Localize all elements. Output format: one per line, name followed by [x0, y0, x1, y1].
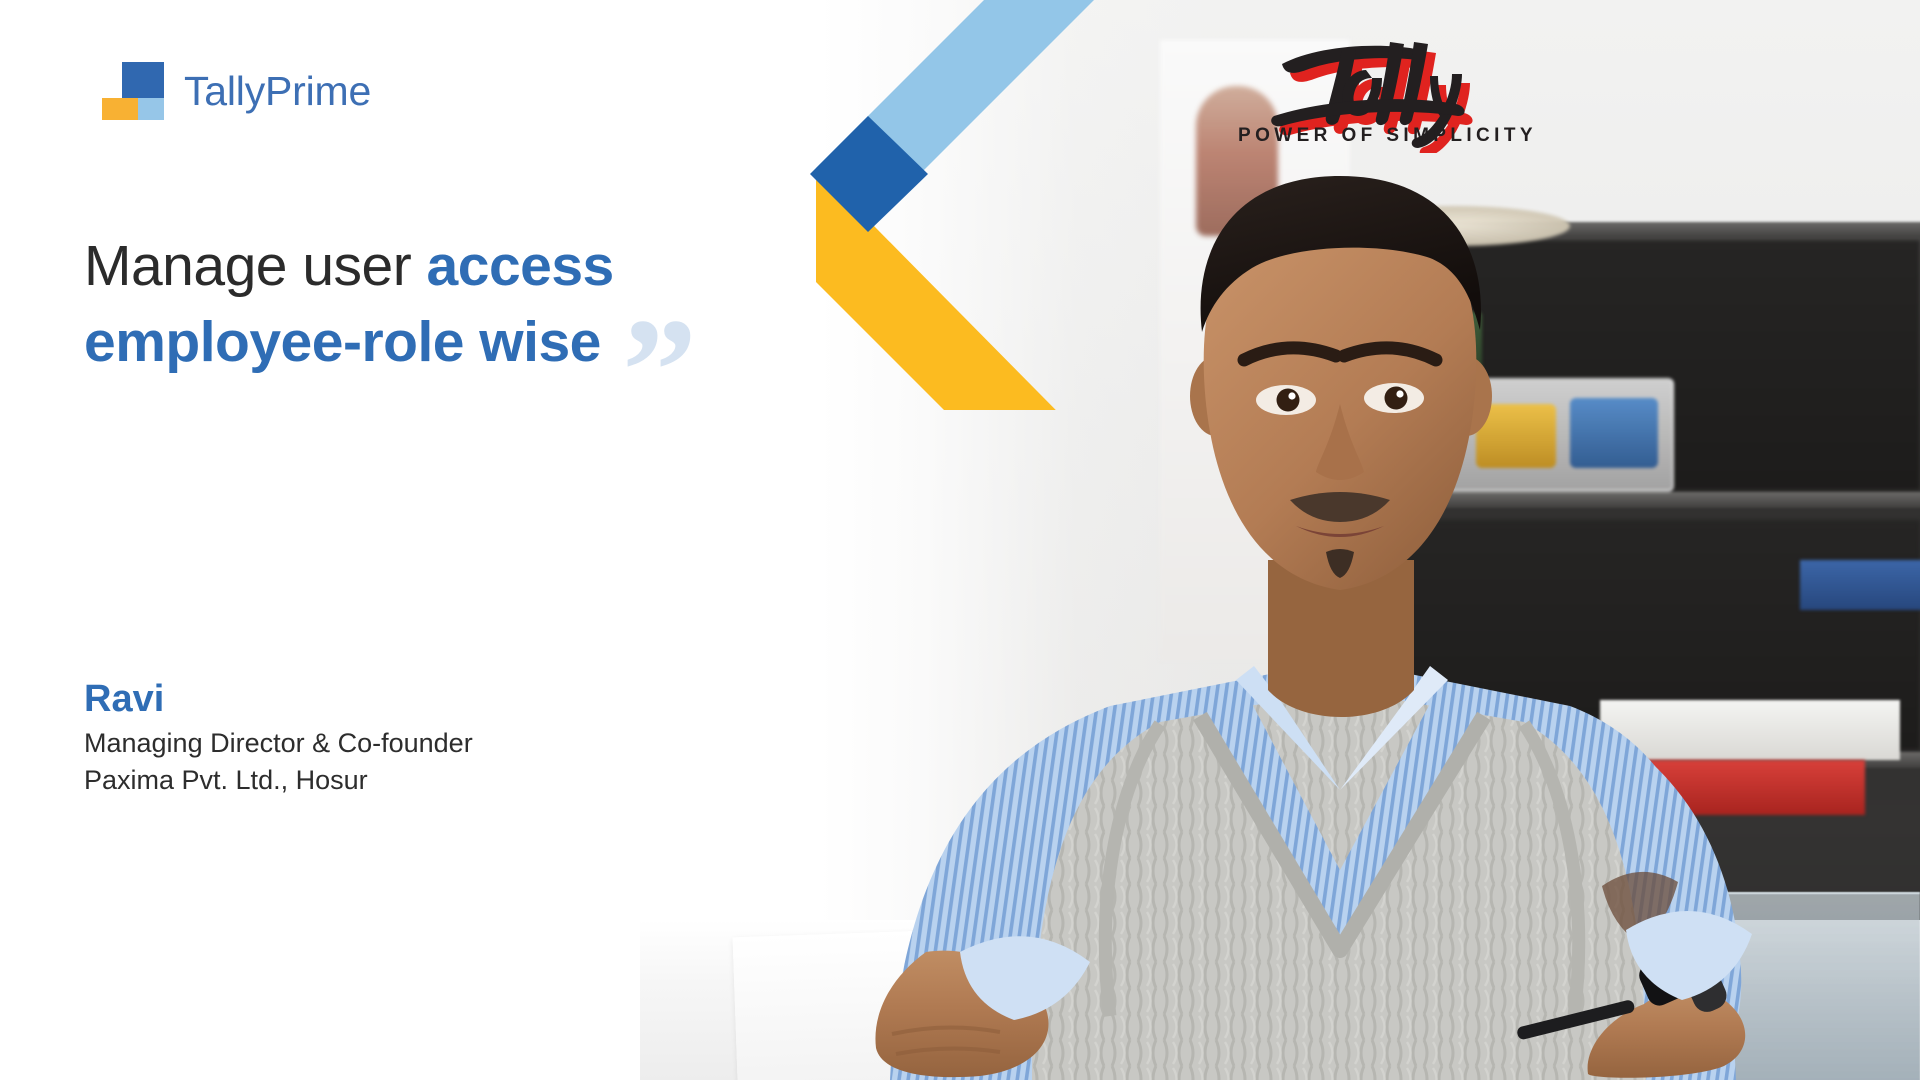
poster-canvas: TallyPrime Manage user access employee-r… — [0, 0, 1920, 1080]
logo-square-top — [122, 62, 164, 98]
attribution-role: Managing Director & Co-founder — [84, 725, 724, 762]
eye-highlight-left — [1288, 392, 1295, 399]
attribution-name: Ravi — [84, 677, 724, 721]
logo-square-lightblue — [138, 98, 164, 120]
attribution-block: Ravi Managing Director & Co-founder Paxi… — [84, 677, 724, 799]
eye-highlight-right — [1396, 390, 1403, 397]
headline-line1-plain: Manage user — [84, 234, 427, 298]
tallyprime-wordmark: TallyPrime — [184, 68, 371, 115]
tallyprime-logo-icon — [102, 62, 164, 120]
quotation-mark-icon: ” — [622, 296, 697, 446]
iris-right — [1385, 387, 1408, 410]
iris-left — [1277, 389, 1300, 412]
chevron-accent-graphic — [780, 0, 1200, 410]
headline-line1-accent: access — [427, 234, 614, 298]
tallyprime-brand-lockup: TallyPrime — [102, 62, 371, 120]
logo-square-yellow — [102, 98, 138, 120]
tally-tagline: POWER OF SIMPLICITY — [1238, 125, 1508, 147]
attribution-organization: Paxima Pvt. Ltd., Hosur — [84, 762, 724, 799]
